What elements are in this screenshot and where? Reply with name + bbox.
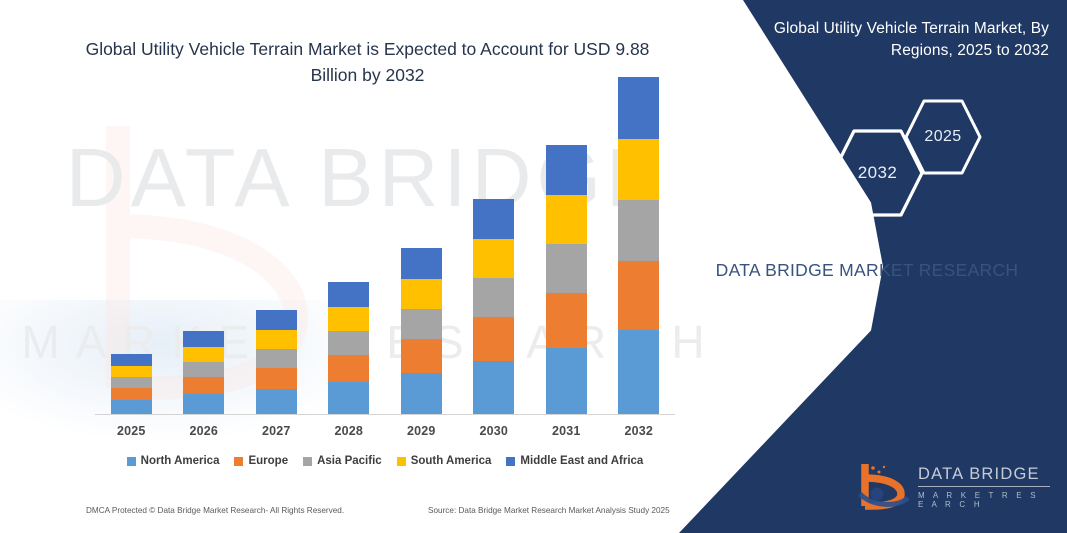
legend-label: Middle East and Africa [520, 455, 643, 467]
bar-segment [618, 200, 659, 261]
x-axis-label: 2025 [95, 424, 167, 438]
stacked-bar [401, 248, 442, 414]
bar-segment [183, 347, 224, 362]
bar-segment [618, 77, 659, 139]
bar-segment [256, 310, 297, 330]
bar-segment [618, 330, 659, 414]
logo-wordmark: DATA BRIDGE M A R K E T R E S E A R C H [918, 465, 1050, 509]
bar-column [95, 115, 167, 414]
page-title: Global Utility Vehicle Terrain Market is… [60, 36, 675, 89]
bar-segment [256, 368, 297, 389]
legend-item[interactable]: Europe [234, 455, 288, 467]
legend-swatch-icon [506, 457, 515, 466]
chart-x-axis-line [95, 414, 675, 415]
bar-segment [546, 348, 587, 414]
logo-name: DATA BRIDGE [918, 465, 1050, 487]
legend-label: Europe [248, 455, 288, 467]
stacked-bar [618, 77, 659, 414]
x-axis-label: 2028 [313, 424, 385, 438]
x-axis-label: 2027 [240, 424, 312, 438]
legend-item[interactable]: Middle East and Africa [506, 455, 643, 467]
bar-segment [618, 261, 659, 330]
bar-segment [111, 354, 152, 366]
x-axis-label: 2031 [530, 424, 602, 438]
chart-bars-container [95, 115, 675, 414]
legend-swatch-icon [397, 457, 406, 466]
chart-x-axis-labels: 20252026202720282029203020312032 [95, 424, 675, 438]
bar-column [240, 115, 312, 414]
bar-segment [111, 366, 152, 377]
bar-segment [546, 195, 587, 244]
bar-segment [401, 309, 442, 339]
legend-item[interactable]: North America [127, 455, 220, 467]
bar-segment [618, 139, 659, 200]
stacked-bar-chart [95, 115, 675, 415]
x-axis-label: 2026 [168, 424, 240, 438]
bar-segment [256, 349, 297, 368]
legend-label: Asia Pacific [317, 455, 382, 467]
bar-segment [546, 293, 587, 348]
legend-swatch-icon [127, 457, 136, 466]
x-axis-label: 2030 [458, 424, 530, 438]
bar-segment [401, 339, 442, 373]
bar-segment [328, 355, 369, 382]
bar-segment [401, 373, 442, 414]
legend-label: South America [411, 455, 492, 467]
brand-logo: DATA BRIDGE M A R K E T R E S E A R C H [856, 457, 1051, 513]
bar-segment [546, 244, 587, 293]
bar-column [603, 115, 675, 414]
bar-segment [473, 361, 514, 414]
bar-segment [546, 145, 587, 195]
hexagon-group: 2032 2025 [830, 98, 995, 218]
bar-segment [183, 394, 224, 414]
footer: DMCA Protected © Data Bridge Market Rese… [0, 506, 700, 528]
bar-segment [111, 377, 152, 388]
bar-segment [328, 382, 369, 414]
bar-segment [183, 331, 224, 347]
bar-segment [328, 282, 369, 307]
stacked-bar [328, 282, 369, 414]
infographic-canvas: DATA BRIDGE MARKET RESEARCH Global Utili… [0, 0, 1067, 533]
bar-segment [111, 400, 152, 414]
x-axis-label: 2032 [603, 424, 675, 438]
footer-source: Source: Data Bridge Market Research Mark… [428, 506, 670, 515]
data-bridge-logo-icon [856, 460, 914, 510]
legend-label: North America [141, 455, 220, 467]
bar-segment [473, 239, 514, 278]
footer-copyright: DMCA Protected © Data Bridge Market Rese… [86, 506, 344, 515]
bar-column [313, 115, 385, 414]
bar-column [385, 115, 457, 414]
bar-segment [183, 362, 224, 377]
hexagon-2025-label: 2025 [903, 98, 983, 176]
panel-brand-watermark: DATA BRIDGE MARKET RESEARCH [707, 258, 1027, 283]
hexagon-2025: 2025 [903, 98, 983, 176]
bar-segment [256, 330, 297, 349]
bar-segment [401, 279, 442, 309]
legend-item[interactable]: South America [397, 455, 492, 467]
bar-segment [256, 389, 297, 414]
bar-column [530, 115, 602, 414]
legend-swatch-icon [303, 457, 312, 466]
bar-segment [473, 199, 514, 239]
chart-legend: North AmericaEuropeAsia PacificSouth Ame… [95, 455, 675, 467]
bar-segment [473, 278, 514, 317]
bar-segment [401, 248, 442, 279]
bar-segment [183, 377, 224, 394]
bar-segment [328, 331, 369, 355]
x-axis-label: 2029 [385, 424, 457, 438]
bar-column [458, 115, 530, 414]
bar-segment [473, 317, 514, 361]
legend-swatch-icon [234, 457, 243, 466]
legend-item[interactable]: Asia Pacific [303, 455, 382, 467]
bar-segment [111, 388, 152, 400]
stacked-bar [546, 145, 587, 414]
stacked-bar [256, 310, 297, 414]
bar-column [168, 115, 240, 414]
logo-tagline: M A R K E T R E S E A R C H [918, 491, 1050, 509]
panel-title: Global Utility Vehicle Terrain Market, B… [731, 18, 1049, 63]
bar-segment [328, 307, 369, 331]
stacked-bar [111, 354, 152, 414]
stacked-bar [473, 199, 514, 414]
stacked-bar [183, 331, 224, 414]
